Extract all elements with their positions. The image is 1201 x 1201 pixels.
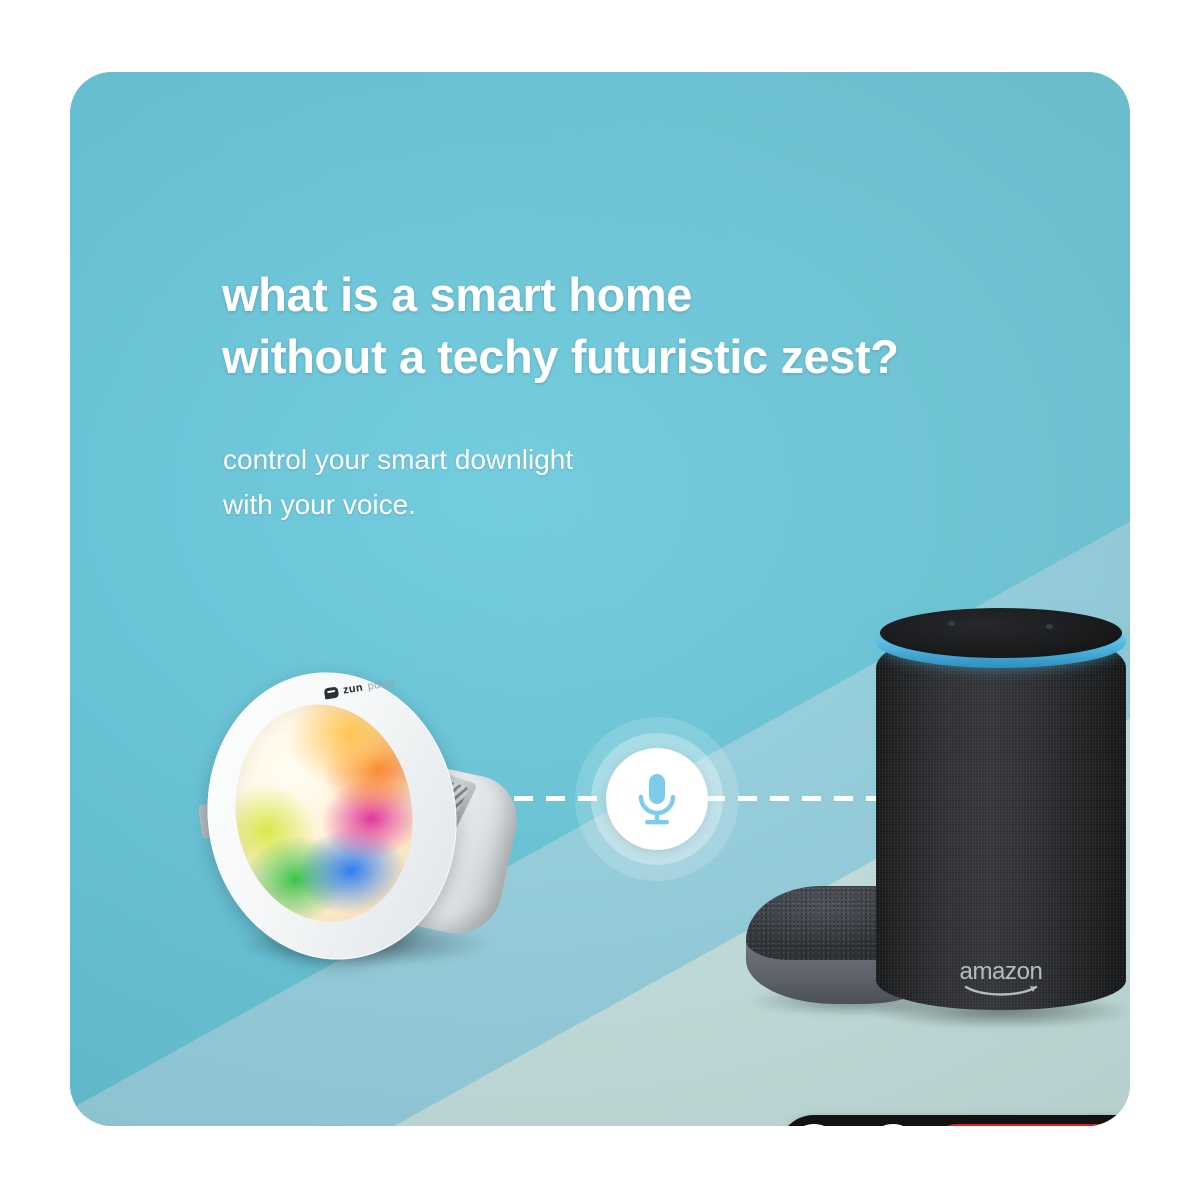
zunpulse-logo-pulse: pulse xyxy=(367,676,396,692)
amazon-smile-icon xyxy=(964,985,1038,997)
echo-button-mute[interactable] xyxy=(948,621,955,626)
echo-button-action[interactable] xyxy=(1046,624,1053,629)
headline-line-1: what is a smart home xyxy=(222,268,692,321)
voice-assistant-badge[interactable]: #AskPulseHome xyxy=(778,1115,1130,1126)
echo-top-surface xyxy=(880,608,1122,658)
promo-card: what is a smart home without a techy fut… xyxy=(70,72,1130,1126)
amazon-echo-product: amazon xyxy=(870,602,1130,1022)
voice-control-indicator xyxy=(575,717,739,881)
echo-fabric-body xyxy=(876,628,1126,1010)
subheadline-line-2: with your voice. xyxy=(223,483,573,528)
alexa-icon[interactable] xyxy=(866,1124,920,1126)
headline: what is a smart home without a techy fut… xyxy=(222,264,899,388)
promo-canvas: what is a smart home without a techy fut… xyxy=(0,0,1201,1201)
amazon-wordmark: amazon xyxy=(951,960,1051,984)
headline-line-2: without a techy futuristic zest? xyxy=(222,326,899,388)
zunpulse-mark-icon xyxy=(324,686,340,699)
smart-downlight-product: zun pulse xyxy=(200,660,520,990)
subheadline: control your smart downlight with your v… xyxy=(223,438,573,528)
subheadline-line-1: control your smart downlight xyxy=(223,444,573,475)
hashtag-pill[interactable]: #AskPulseHome xyxy=(930,1124,1130,1126)
microphone-icon xyxy=(606,748,708,850)
google-assistant-icon[interactable] xyxy=(787,1124,841,1126)
